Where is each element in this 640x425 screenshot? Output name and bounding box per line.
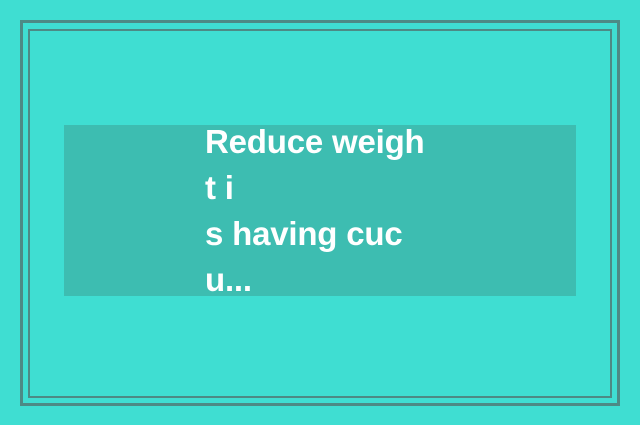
panel-headline-text: Reduce weight i s having cucu...: [205, 119, 435, 303]
content-panel: Reduce weight i s having cucu...: [64, 125, 576, 296]
card-canvas: Reduce weight i s having cucu...: [0, 0, 640, 425]
